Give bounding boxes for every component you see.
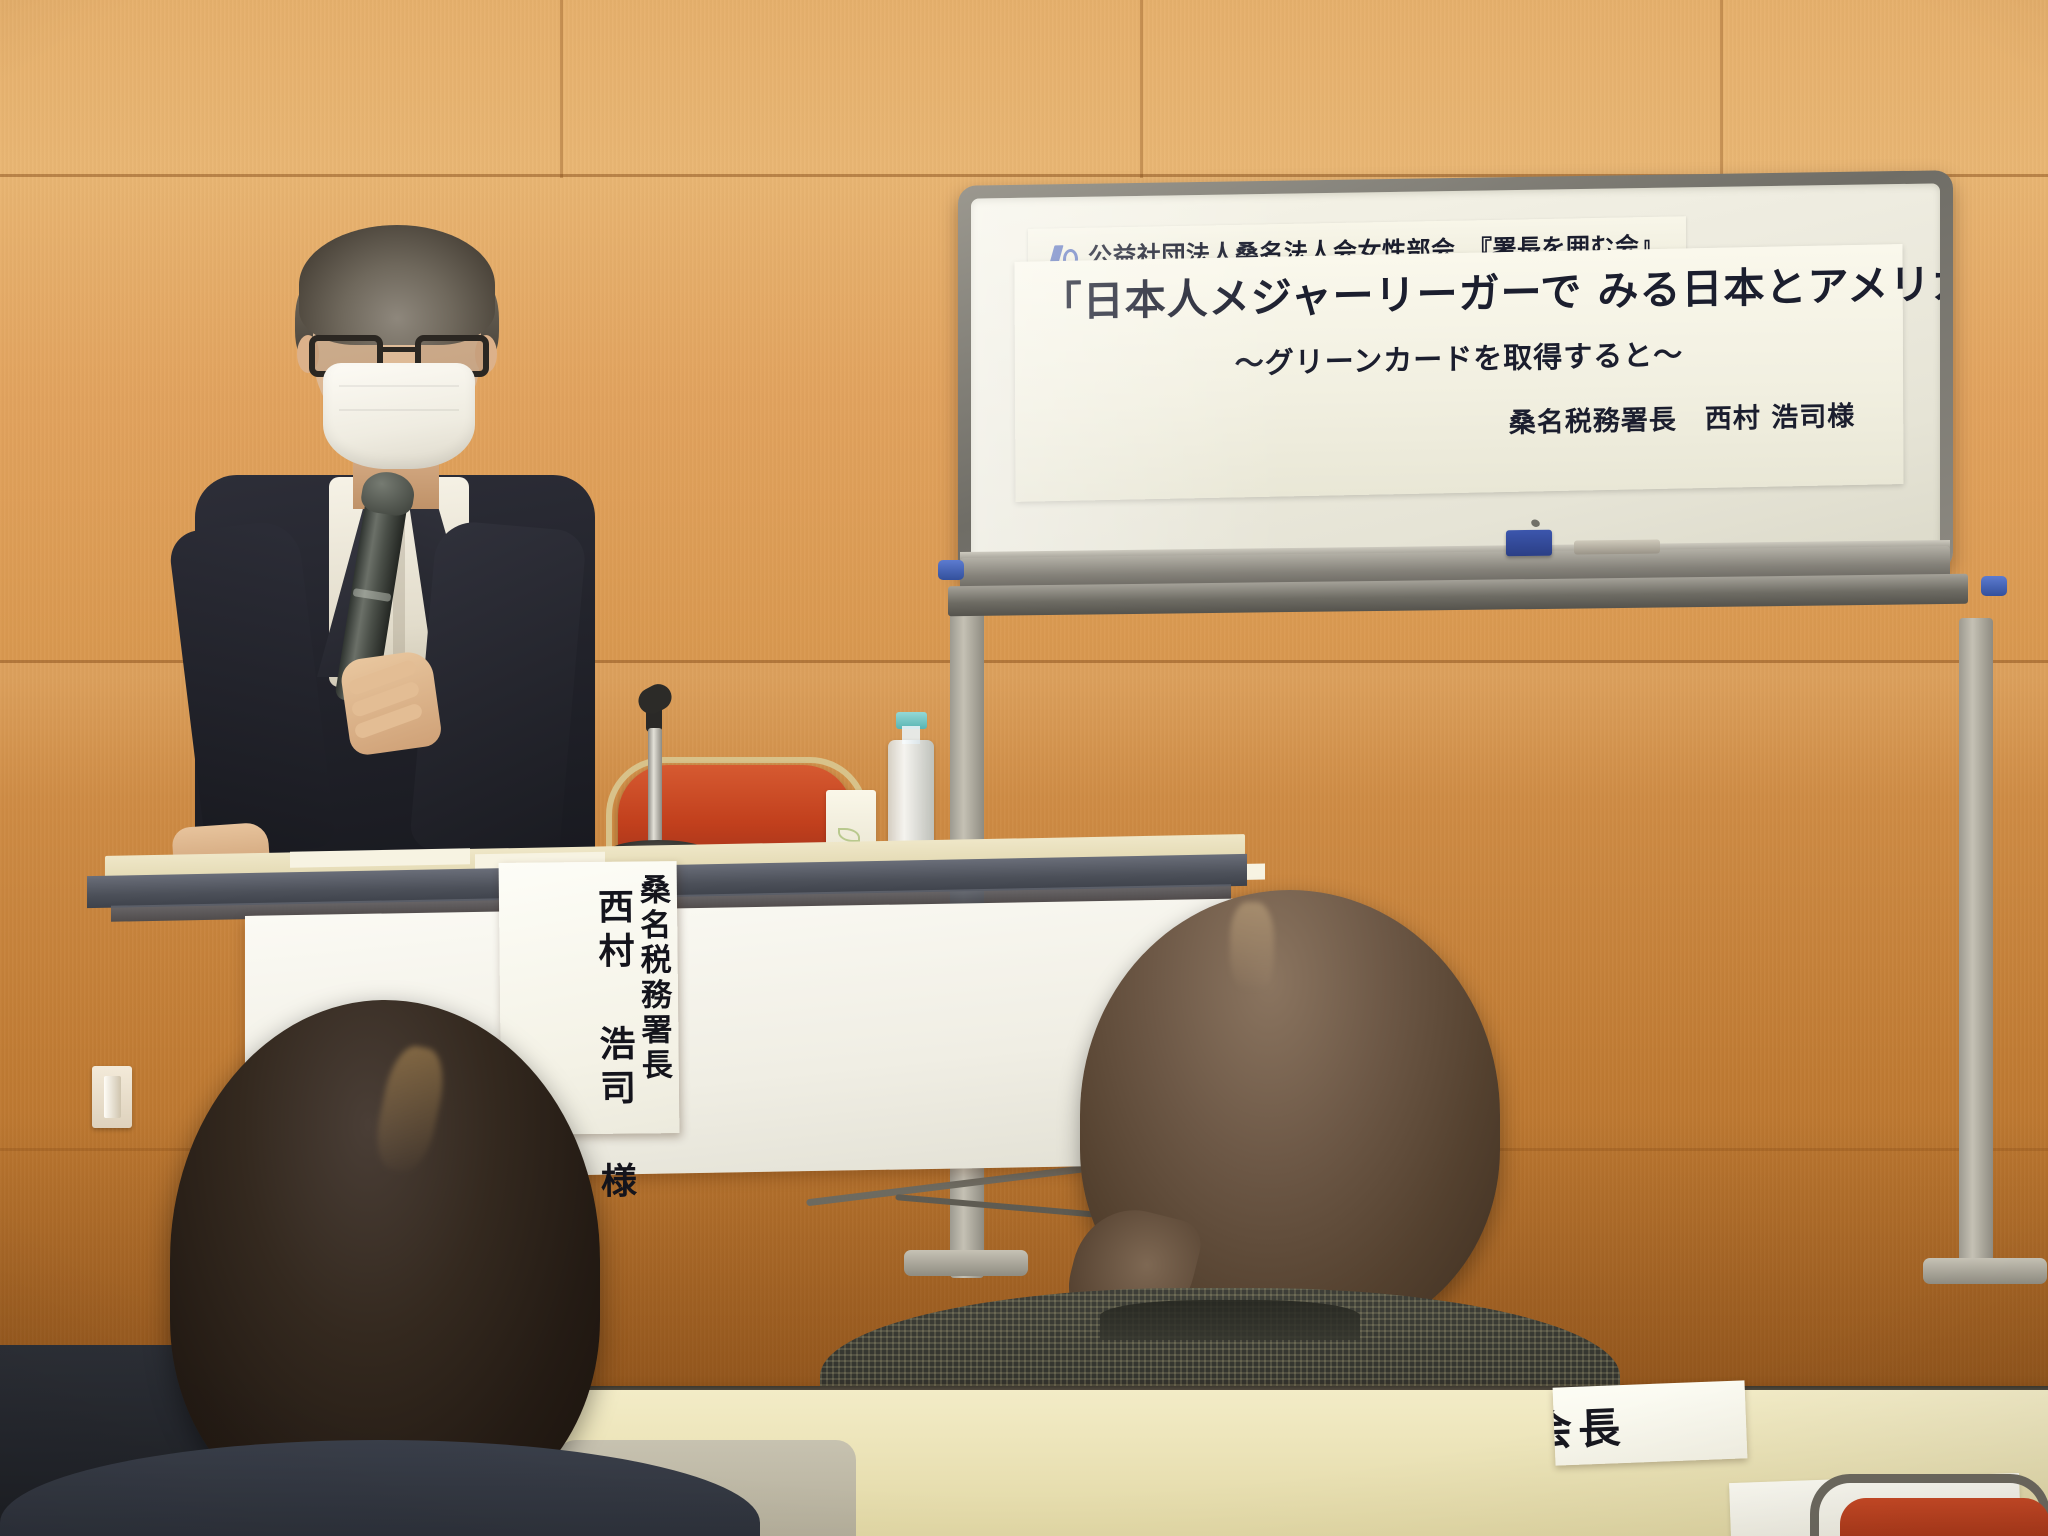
wall-seam-vertical <box>560 0 563 178</box>
face-mask-icon <box>323 363 475 469</box>
microphone-ring <box>353 588 392 602</box>
audience-member-left <box>150 1000 620 1536</box>
water-bottle[interactable] <box>888 740 934 855</box>
wall-seam-vertical <box>1720 0 1723 178</box>
speaker-right-hand <box>339 649 443 757</box>
whiteboard-knob-left[interactable] <box>938 560 964 580</box>
whiteboard-smudge <box>1530 518 1541 528</box>
chairperson-name-card: 会長 <box>1553 1380 1748 1465</box>
whiteboard-foot-right <box>1923 1258 2047 1284</box>
microphone-clip-icon <box>638 686 672 732</box>
whiteboard-leg-right <box>1959 618 1993 1278</box>
audience-right-hair-part <box>1230 902 1274 992</box>
wall-seam-vertical <box>1140 0 1143 178</box>
eyeglass-bridge <box>383 347 415 352</box>
wall-light-switch[interactable] <box>92 1066 132 1128</box>
speaker-presenter <box>225 225 565 865</box>
blue-eraser-icon[interactable] <box>1506 530 1552 557</box>
audience-right-collar <box>1100 1300 1360 1340</box>
speaker-hair <box>299 225 495 345</box>
face-mask-fold <box>339 409 459 411</box>
face-mask-fold <box>339 385 459 387</box>
chairperson-label: 会長 <box>1553 1393 1628 1458</box>
foreground-chair-seat <box>1840 1498 2048 1536</box>
lecture-subtitle: 〜グリーンカードを取得すると〜 <box>1041 328 1877 387</box>
whiteboard-surface: 公益社団法人桑名法人会女性部会 『署長を囲む会』 「日本人メジャーリーガーで み… <box>971 183 1940 572</box>
whiteboard-marker-icon[interactable] <box>1574 539 1660 554</box>
lecture-speaker-line: 桑名税務署長 西村 浩司様 <box>1041 394 1877 450</box>
whiteboard-frame: 公益社団法人桑名法人会女性部会 『署長を囲む会』 「日本人メジャーリーガーで み… <box>958 170 1953 586</box>
seminar-photo-scene: 公益社団法人桑名法人会女性部会 『署長を囲む会』 「日本人メジャーリーガーで み… <box>0 0 2048 1536</box>
placard-title-column: 桑名税務署長 <box>636 873 670 1121</box>
whiteboard-knob-right[interactable] <box>1981 576 2007 596</box>
lecture-title: 「日本人メジャーリーガーで みる日本とアメリカの課税」 <box>1041 265 1877 325</box>
leaf-icon <box>838 828 860 842</box>
microphone-stand-pole <box>648 728 662 846</box>
banner-main-sheet: 「日本人メジャーリーガーで みる日本とアメリカの課税」 〜グリーンカードを取得す… <box>1014 244 1903 502</box>
